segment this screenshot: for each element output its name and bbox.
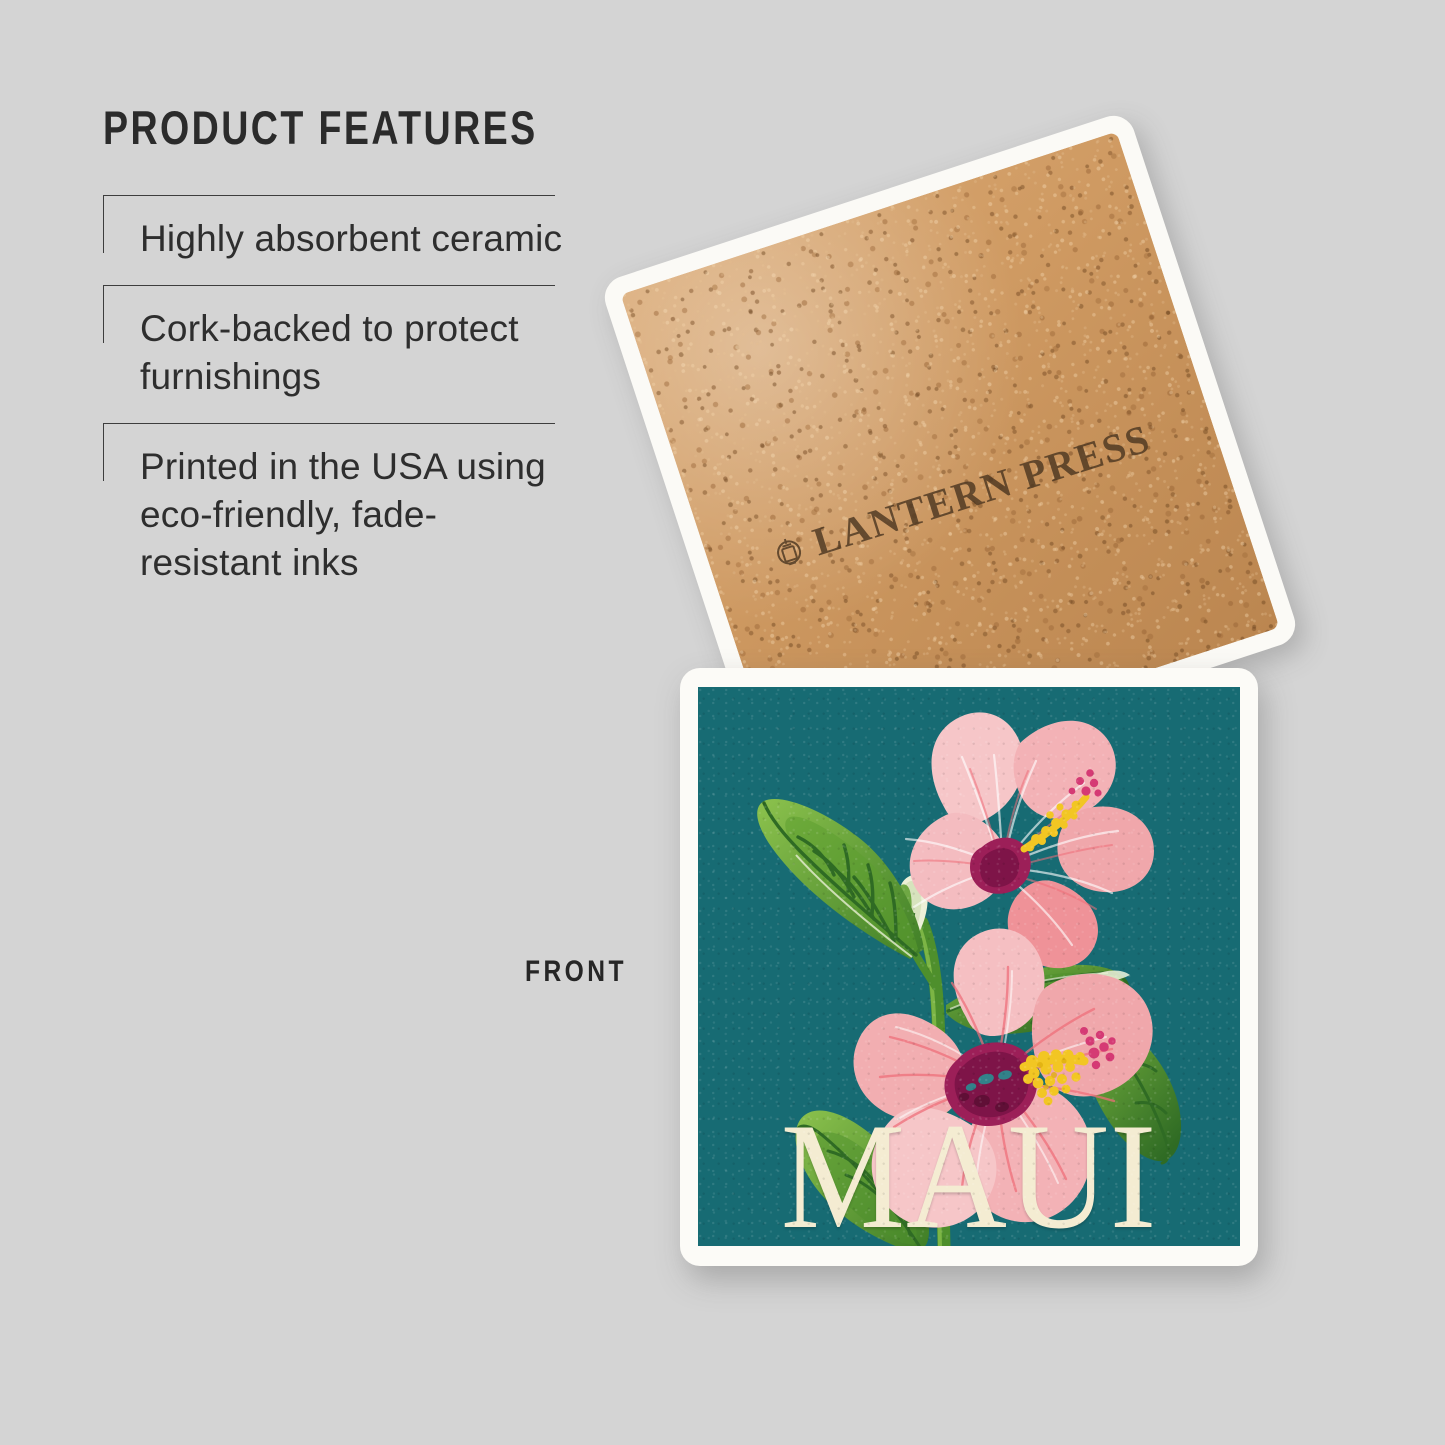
feature-divider [103, 285, 555, 286]
feature-text: Highly absorbent ceramic [140, 215, 573, 263]
brand-name: LANTERN PRESS [807, 414, 1156, 565]
product-feature-page: PRODUCT FEATURES Highly absorbent cerami… [0, 0, 1445, 1445]
feature-item: Highly absorbent ceramic [103, 195, 573, 263]
hibiscus-upper [906, 712, 1154, 968]
artwork-title: MAUI [720, 1100, 1219, 1246]
feature-text: Cork-backed to protect furnishings [140, 305, 573, 401]
feature-tick [103, 285, 104, 343]
lantern-icon [769, 530, 808, 571]
feature-divider [103, 195, 555, 196]
leaf-upper-left [757, 799, 924, 959]
feature-item: Printed in the USA using eco-friendly, f… [103, 423, 573, 587]
coaster-front-artwork: MAUI [698, 687, 1240, 1246]
brand-stamp: LANTERN PRESS [767, 414, 1156, 578]
feature-text: Printed in the USA using eco-friendly, f… [140, 443, 573, 587]
feature-divider [103, 423, 555, 424]
coaster-front: MAUI [680, 668, 1258, 1266]
feature-tick [103, 195, 104, 253]
feature-item: Cork-backed to protect furnishings [103, 285, 573, 401]
feature-tick [103, 423, 104, 481]
product-features-panel: PRODUCT FEATURES Highly absorbent cerami… [103, 104, 573, 610]
label-front: FRONT [525, 955, 627, 989]
page-title: PRODUCT FEATURES [103, 104, 479, 151]
